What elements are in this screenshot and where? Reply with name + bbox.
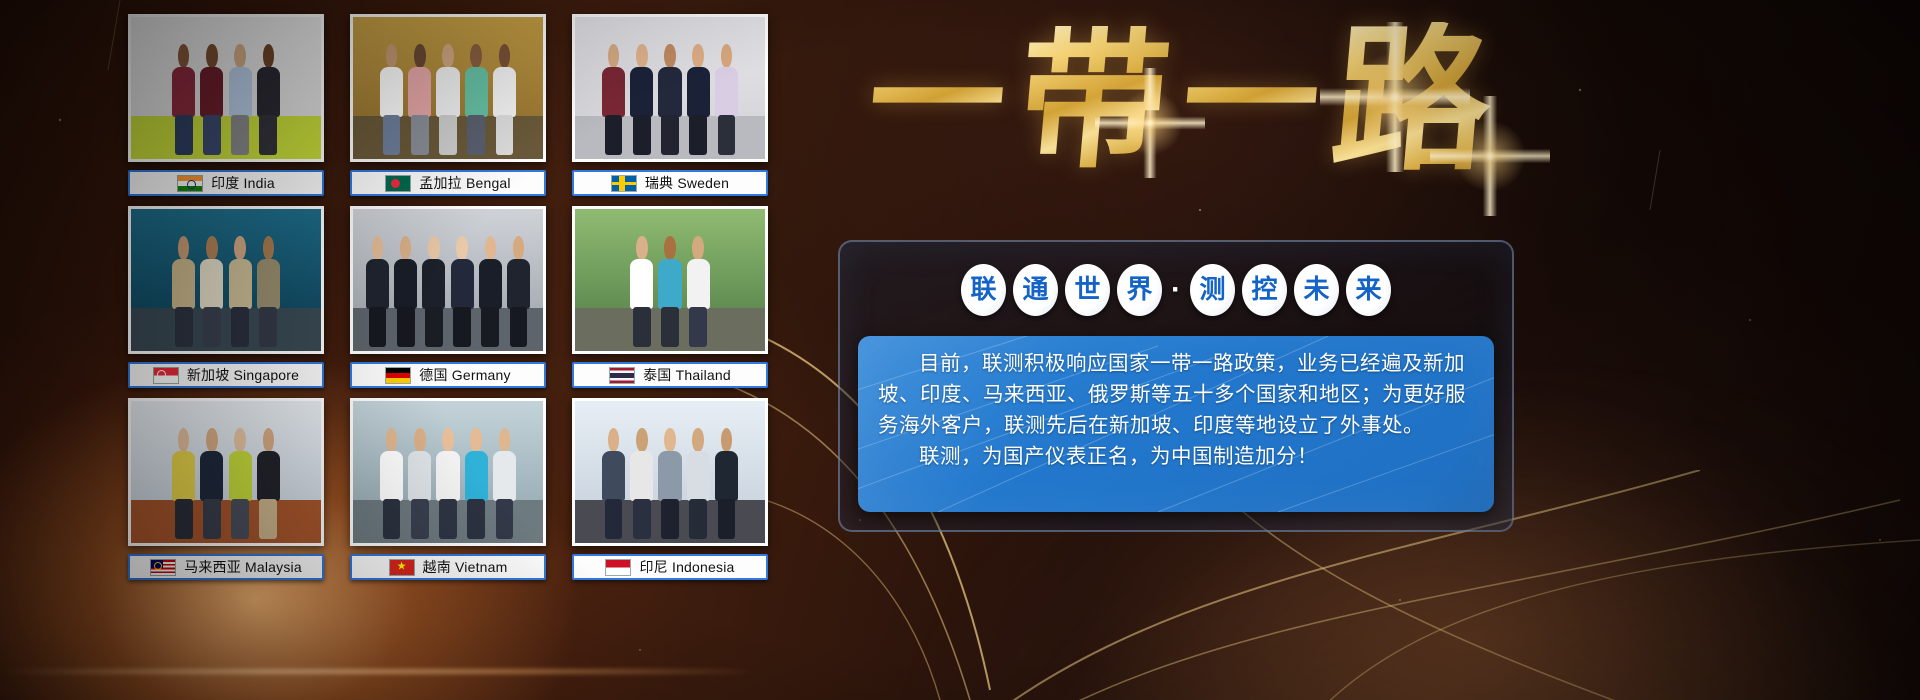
photo-person <box>491 44 517 155</box>
photo-person <box>629 44 655 155</box>
country-photo[interactable] <box>572 398 768 546</box>
calligraphy-char-2: 带 <box>1012 26 1175 176</box>
flag-bangladesh-icon <box>385 175 411 192</box>
photo-person <box>685 236 711 347</box>
gallery-item-germany[interactable]: 德国 Germany <box>350 206 546 384</box>
photo-person <box>255 428 281 539</box>
gallery-item-india[interactable]: 印度 India <box>128 14 324 192</box>
country-caption: 孟加拉 Bengal <box>350 170 546 196</box>
photo-person <box>449 236 475 347</box>
country-photo[interactable] <box>350 398 546 546</box>
banner-stage: 一 带 一 路 <box>0 0 1920 700</box>
slogan-char: 未 <box>1303 277 1329 303</box>
photo-person <box>505 236 531 347</box>
photo-person <box>378 44 404 155</box>
country-photo-grid: 印度 India <box>128 14 768 594</box>
photo-person <box>407 44 433 155</box>
gallery-item-vietnam[interactable]: 越南 Vietnam <box>350 398 546 576</box>
photo-person <box>435 428 461 539</box>
flag-india-icon <box>177 175 203 192</box>
slogan-row: 联通世界·测控未来 <box>840 264 1512 316</box>
flag-singapore-icon <box>153 367 179 384</box>
photo-person <box>171 44 197 155</box>
country-label: 越南 Vietnam <box>423 557 508 577</box>
country-photo[interactable] <box>128 206 324 354</box>
slogan-char-bubble: 世 <box>1065 264 1110 316</box>
photo-person <box>364 236 390 347</box>
slogan-char: 界 <box>1126 277 1152 303</box>
slogan-char-bubble: 控 <box>1242 264 1287 316</box>
description-paragraph-2: 联测，为国产仪表正名，为中国制造加分！ <box>878 441 1474 472</box>
photo-person <box>463 44 489 155</box>
photo-person <box>171 236 197 347</box>
slogan-separator: · <box>1169 275 1183 305</box>
flag-germany-icon <box>385 367 411 384</box>
slogan-char-bubble: 界 <box>1117 264 1162 316</box>
info-panel: 联通世界·测控未来 目前，联测积极响应国家一带一路政策，业务已经遍及新加坡、印度… <box>838 240 1514 532</box>
photo-person <box>199 236 225 347</box>
country-label: 印尼 Indonesia <box>639 557 734 577</box>
headline-calligraphy: 一 带 一 路 <box>830 6 1530 196</box>
slogan-char-bubble: 测 <box>1190 264 1235 316</box>
slogan-char: 通 <box>1022 277 1048 303</box>
country-photo[interactable] <box>572 206 768 354</box>
photo-person <box>171 428 197 539</box>
photo-person <box>657 44 683 155</box>
photo-person <box>657 236 683 347</box>
gallery-item-thailand[interactable]: 泰国 Thailand <box>572 206 768 384</box>
photo-person <box>463 428 489 539</box>
flag-vietnam-icon <box>389 559 415 576</box>
country-caption: 泰国 Thailand <box>572 362 768 388</box>
country-caption: 印度 India <box>128 170 324 196</box>
photo-person <box>255 44 281 155</box>
photo-person <box>600 44 626 155</box>
slogan-char: 来 <box>1355 277 1381 303</box>
slogan-char: 世 <box>1074 277 1100 303</box>
photo-person <box>491 428 517 539</box>
photo-person <box>255 236 281 347</box>
photo-person <box>378 428 404 539</box>
gallery-item-bengal[interactable]: 孟加拉 Bengal <box>350 14 546 192</box>
country-label: 瑞典 Sweden <box>645 173 729 193</box>
slogan-char-bubble: 联 <box>961 264 1006 316</box>
slogan-char-bubble: 来 <box>1346 264 1391 316</box>
gallery-item-singapore[interactable]: 新加坡 Singapore <box>128 206 324 384</box>
description-box: 目前，联测积极响应国家一带一路政策，业务已经遍及新加坡、印度、马来西亚、俄罗斯等… <box>858 336 1494 512</box>
country-label: 孟加拉 Bengal <box>419 173 510 193</box>
slogan-char: 测 <box>1199 277 1225 303</box>
flag-thailand-icon <box>609 367 635 384</box>
photo-person <box>421 236 447 347</box>
photo-person <box>685 44 711 155</box>
country-photo[interactable] <box>572 14 768 162</box>
country-caption: 新加坡 Singapore <box>128 362 324 388</box>
photo-person <box>713 44 739 155</box>
flag-malaysia-icon <box>150 559 176 576</box>
slogan-char-bubble: 未 <box>1294 264 1339 316</box>
country-photo[interactable] <box>350 14 546 162</box>
country-label: 印度 India <box>211 173 275 193</box>
country-photo[interactable] <box>350 206 546 354</box>
description-paragraph-1: 目前，联测积极响应国家一带一路政策，业务已经遍及新加坡、印度、马来西亚、俄罗斯等… <box>878 348 1474 441</box>
country-caption: 越南 Vietnam <box>350 554 546 580</box>
photo-person <box>227 236 253 347</box>
photo-person <box>227 44 253 155</box>
slogan-char-bubble: 通 <box>1013 264 1058 316</box>
calligraphy-char-4: 路 <box>1326 22 1498 180</box>
description-text: 目前，联测积极响应国家一带一路政策，业务已经遍及新加坡、印度、马来西亚、俄罗斯等… <box>858 336 1494 472</box>
slogan-char: 控 <box>1251 277 1277 303</box>
flag-sweden-icon <box>611 175 637 192</box>
country-photo[interactable] <box>128 398 324 546</box>
photo-person <box>629 428 655 539</box>
photo-person <box>477 236 503 347</box>
country-caption: 德国 Germany <box>350 362 546 388</box>
photo-person <box>657 428 683 539</box>
country-caption: 瑞典 Sweden <box>572 170 768 196</box>
photo-person <box>685 428 711 539</box>
photo-person <box>199 44 225 155</box>
slogan-char: 联 <box>970 277 996 303</box>
country-label: 德国 Germany <box>419 365 510 385</box>
gallery-item-sweden[interactable]: 瑞典 Sweden <box>572 14 768 192</box>
photo-person <box>407 428 433 539</box>
calligraphy-char-1: 一 <box>863 33 1011 169</box>
country-caption: 印尼 Indonesia <box>572 554 768 580</box>
gallery-item-indonesia[interactable]: 印尼 Indonesia <box>572 398 768 576</box>
calligraphy-char-3: 一 <box>1177 33 1325 169</box>
photo-person <box>435 44 461 155</box>
country-label: 泰国 Thailand <box>643 365 731 385</box>
country-label: 新加坡 Singapore <box>187 365 299 385</box>
photo-person <box>713 428 739 539</box>
photo-person <box>629 236 655 347</box>
photo-person <box>227 428 253 539</box>
country-label: 马来西亚 Malaysia <box>184 557 302 577</box>
photo-person <box>393 236 419 347</box>
country-photo[interactable] <box>128 14 324 162</box>
flag-indonesia-icon <box>605 559 631 576</box>
photo-person <box>600 428 626 539</box>
photo-person <box>199 428 225 539</box>
country-caption: 马来西亚 Malaysia <box>128 554 324 580</box>
gallery-item-malaysia[interactable]: 马来西亚 Malaysia <box>128 398 324 576</box>
